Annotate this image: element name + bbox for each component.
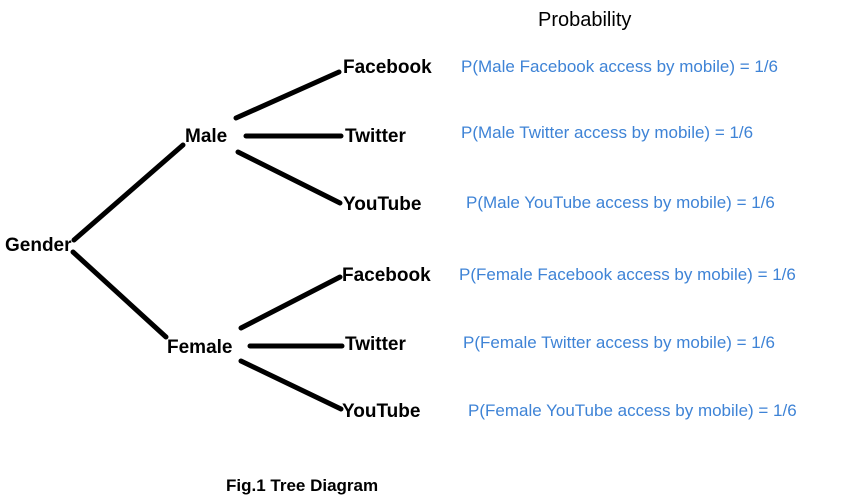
node-male[interactable]: Male [185, 127, 227, 146]
leaf-female-facebook[interactable]: Facebook [342, 266, 431, 285]
leaf-female-twitter[interactable]: Twitter [345, 335, 406, 354]
probability-male-youtube: P(Male YouTube access by mobile) = 1/6 [466, 194, 775, 211]
edge-male-to-youtube [238, 152, 340, 203]
edge-female-to-youtube [241, 361, 341, 409]
probability-female-twitter: P(Female Twitter access by mobile) = 1/6 [463, 334, 775, 351]
leaf-male-youtube[interactable]: YouTube [343, 195, 421, 214]
node-female[interactable]: Female [167, 338, 232, 357]
probability-column-header: Probability [538, 10, 631, 30]
probability-male-twitter: P(Male Twitter access by mobile) = 1/6 [461, 124, 753, 141]
edge-female-to-facebook [241, 277, 340, 328]
figure-caption: Fig.1 Tree Diagram [226, 477, 378, 494]
probability-male-facebook: P(Male Facebook access by mobile) = 1/6 [461, 58, 778, 75]
edge-gender-to-male [74, 145, 183, 240]
probability-female-facebook: P(Female Facebook access by mobile) = 1/… [459, 266, 796, 283]
edge-gender-to-female [73, 252, 166, 337]
edge-male-to-facebook [236, 72, 339, 118]
probability-female-youtube: P(Female YouTube access by mobile) = 1/6 [468, 402, 797, 419]
leaf-female-youtube[interactable]: YouTube [342, 402, 420, 421]
tree-diagram-figure: Gender Male Female Facebook Twitter YouT… [0, 0, 861, 504]
leaf-male-facebook[interactable]: Facebook [343, 58, 432, 77]
node-gender[interactable]: Gender [5, 236, 72, 255]
leaf-male-twitter[interactable]: Twitter [345, 127, 406, 146]
